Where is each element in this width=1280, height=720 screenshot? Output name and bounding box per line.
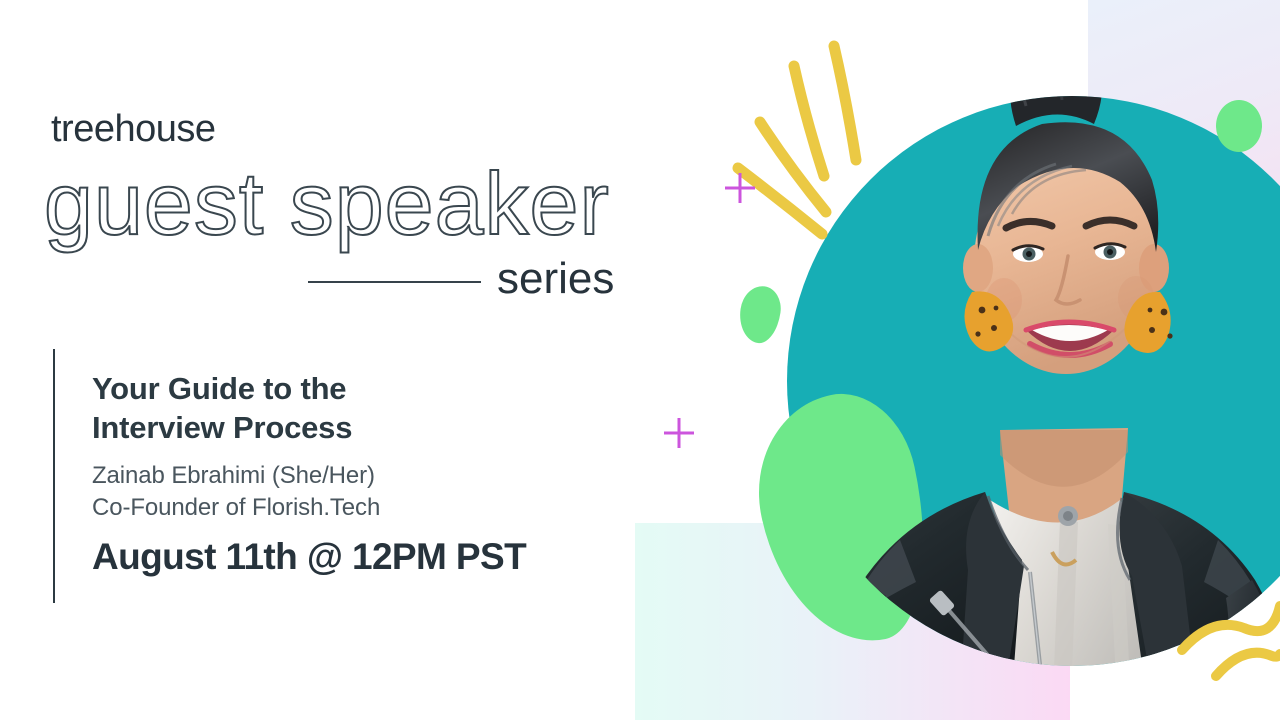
talk-title: Your Guide to the Interview Process <box>92 369 352 447</box>
talk-title-line-1: Your Guide to the <box>92 369 352 408</box>
vertical-accent-bar <box>53 349 55 603</box>
series-label: series <box>497 254 614 304</box>
talk-title-line-2: Interview Process <box>92 408 352 447</box>
headline-outline-text: guest speaker <box>44 158 610 250</box>
speaker-details: Zainab Ebrahimi (She/Her) Co-Founder of … <box>92 460 380 524</box>
plus-mark-lower <box>664 418 694 448</box>
speaker-name: Zainab Ebrahimi (She/Her) <box>92 460 380 492</box>
speaker-portrait <box>822 38 1280 720</box>
yellow-burst-strokes <box>738 46 856 234</box>
promo-slide: treehouse guest speaker series Your Guid… <box>0 0 1280 720</box>
brand-wordmark: treehouse <box>51 108 216 151</box>
series-divider-rule <box>308 281 481 283</box>
event-datetime: August 11th @ 12PM PST <box>92 536 526 578</box>
speaker-role: Co-Founder of Florish.Tech <box>92 492 380 524</box>
